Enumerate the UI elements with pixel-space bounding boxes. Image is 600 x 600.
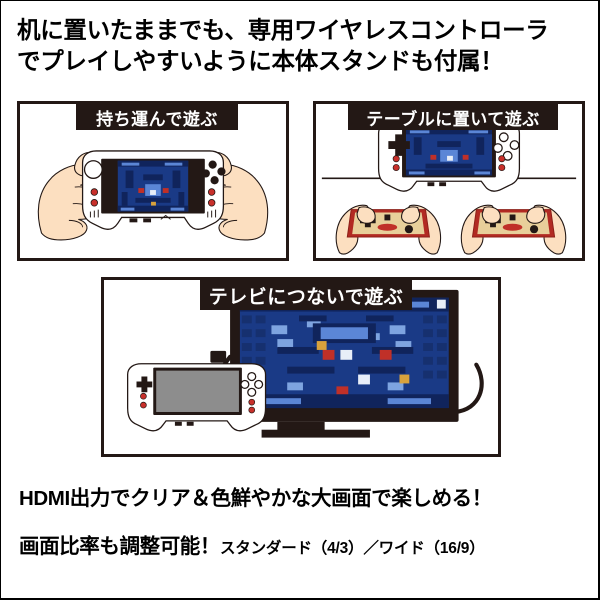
sprite-enemy-red-2 xyxy=(380,350,392,360)
panel-handheld-mode: 持ち運んで遊ぶ xyxy=(17,101,289,261)
sprite-enemy-red-1 xyxy=(323,350,335,360)
product-feature-page: 机に置いたままでも、専用ワイヤレスコントローラ でプレイしやすいように本体スタン… xyxy=(0,0,600,600)
footer-line-2-sub: スタンダード（4/3）／ワイド（16/9） xyxy=(220,536,485,558)
standing-console-game-screen xyxy=(406,128,492,175)
connected-console xyxy=(128,364,266,431)
panel-table-mode: テーブルに置いて遊ぶ xyxy=(313,101,585,261)
panel-table-label: テーブルに置いて遊ぶ xyxy=(348,104,558,130)
footer-line-1: HDMI出力でクリア＆色鮮やかな大画面で楽しめる！ xyxy=(19,481,492,511)
panel-handheld-label: 持ち運んで遊ぶ xyxy=(76,104,238,130)
sprite-powerup-gold xyxy=(317,341,327,350)
sprite-powerup-gold-2 xyxy=(399,375,409,384)
sprite-player-white xyxy=(340,350,352,360)
panel-tv-label: テレビにつないで遊ぶ xyxy=(200,280,412,310)
handheld-console xyxy=(83,151,226,229)
standing-console xyxy=(379,123,520,192)
hud-p2-bar xyxy=(388,398,431,404)
footer-line-2: 画面比率も調整可能！ スタンダード（4/3）／ワイド（16/9） xyxy=(19,529,485,559)
handheld-game-screen xyxy=(118,161,188,212)
console-screen-blank xyxy=(156,371,239,412)
page-headline: 机に置いたままでも、専用ワイヤレスコントローラ でプレイしやすいように本体スタン… xyxy=(17,15,589,78)
sprite-player-white-2 xyxy=(358,375,370,385)
hdmi-connector xyxy=(210,351,226,363)
panel-tv-mode: テレビにつないで遊ぶ xyxy=(101,277,501,457)
footer-line-2-main: 画面比率も調整可能！ xyxy=(19,529,220,559)
